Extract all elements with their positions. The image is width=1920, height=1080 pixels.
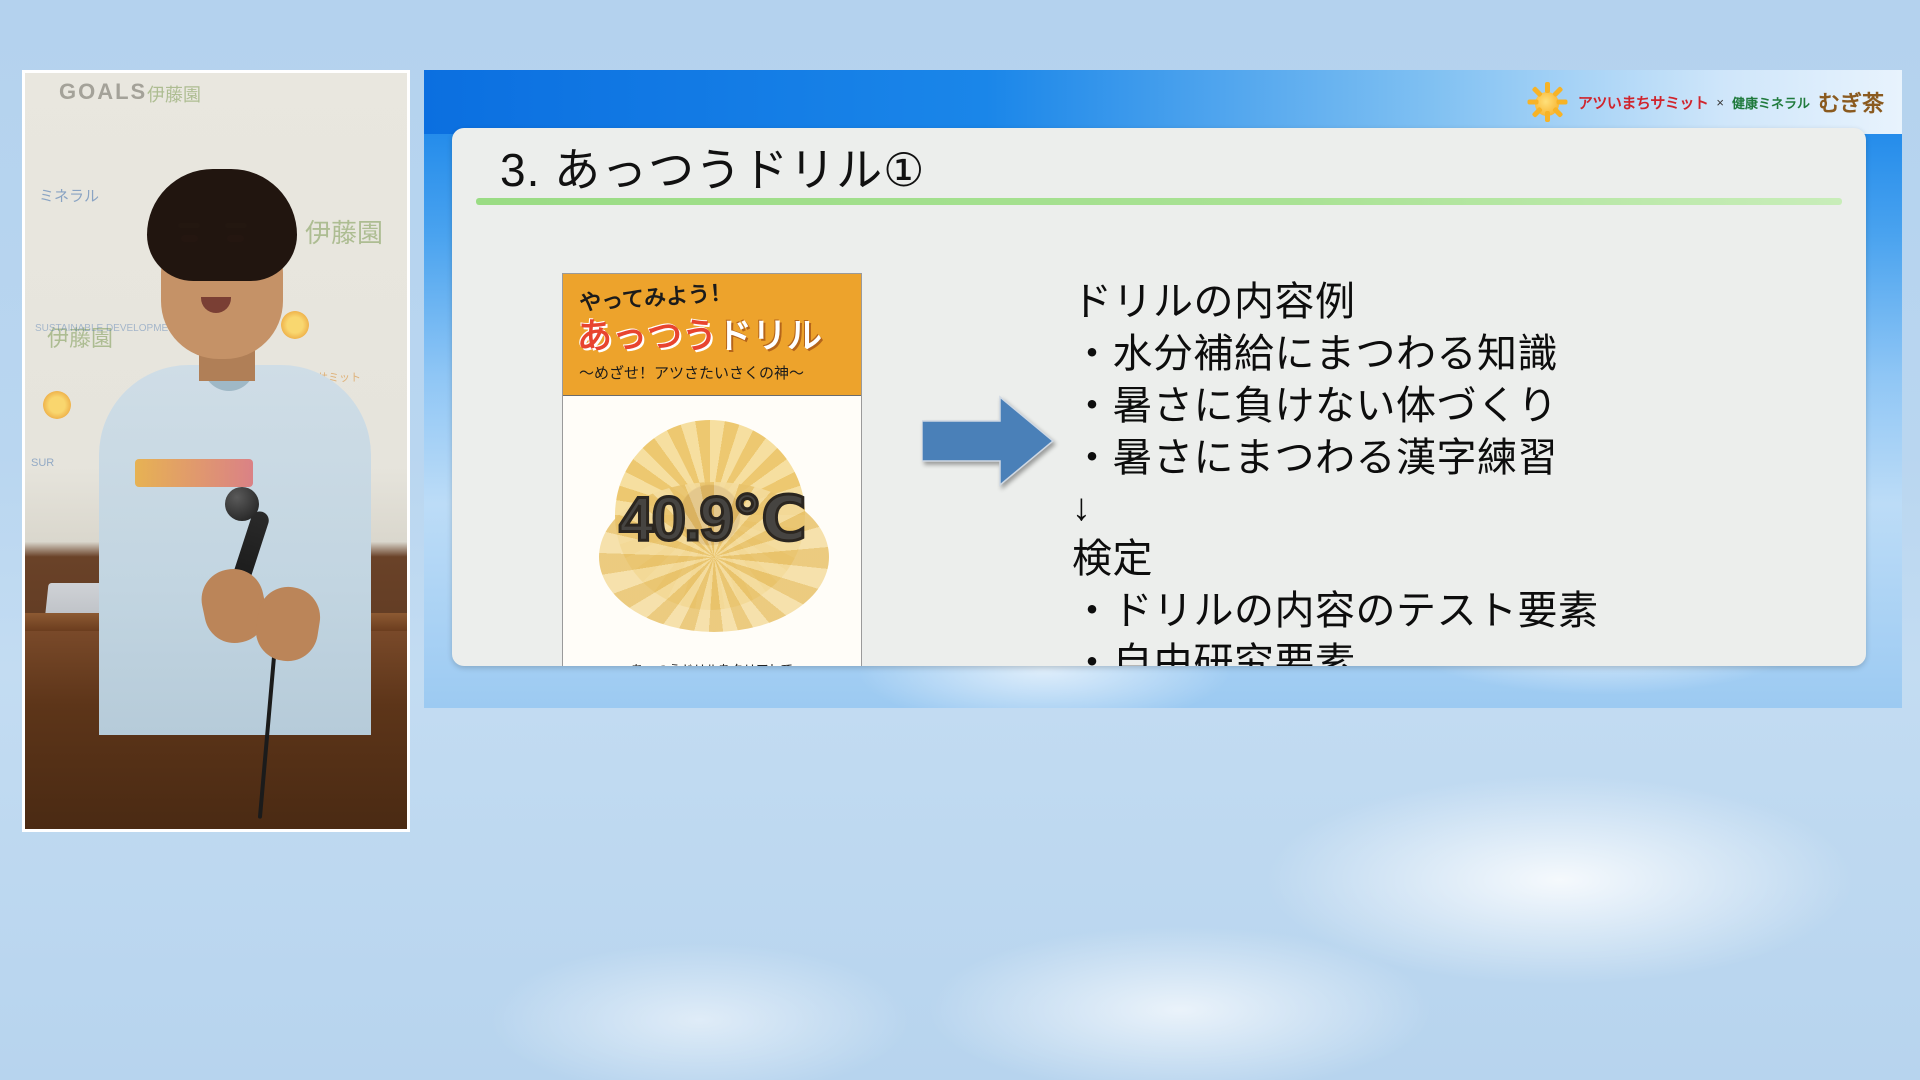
- content-text-block: ドリルの内容例 ・水分補給にまつわる知識 ・暑さに負けない体づくり ・暑さにまつ…: [1072, 276, 1832, 666]
- sun-icon: [43, 391, 71, 419]
- content-line: ・自由研究要素: [1072, 637, 1832, 666]
- content-line: 検定: [1072, 533, 1832, 585]
- poster-line2: あっつうドリル: [577, 308, 822, 359]
- eye-right: [227, 235, 244, 242]
- poster-caption: あっつうドリルをクリアして アツさたいさく検定にチャレンジ！: [563, 661, 861, 666]
- eye-left: [181, 235, 198, 242]
- shirt-logo-icon: [135, 459, 253, 487]
- title-divider: [476, 198, 1842, 205]
- poster-line2-a: あっつう: [577, 317, 717, 356]
- drill-poster-image: やってみよう！ あっつうドリル ～めざせ！アツさたいさくの神～ 40.9℃ あっ…: [562, 273, 862, 666]
- poster-body: 40.9℃ あっつうドリルをクリアして アツさたいさく検定にチャレンジ！: [563, 396, 861, 666]
- eyebrow-right: [225, 223, 247, 228]
- eyebrow-left: [178, 223, 200, 228]
- poster-line3: ～めざせ！アツさたいさくの神～: [579, 362, 804, 383]
- board-mark: ミネラル: [39, 185, 99, 206]
- speaker-video-panel[interactable]: GOALS 伊藤園 ミネラル 伊藤園 伊藤園 SUSTAINABLE DEVEL…: [22, 70, 410, 832]
- content-line: ・暑さにまつわる漢字練習: [1072, 432, 1832, 484]
- poster-line2-b: ドリル: [717, 317, 822, 356]
- presenter: [117, 169, 353, 729]
- microphone-head-icon: [225, 487, 259, 521]
- sun-icon: [1524, 82, 1570, 122]
- poster-header: やってみよう！ あっつうドリル ～めざせ！アツさたいさくの神～: [563, 274, 861, 396]
- board-mark: GOALS: [59, 79, 147, 105]
- page-title: 3. あっつうドリル①: [500, 134, 925, 200]
- board-mark: 伊藤園: [147, 81, 201, 107]
- content-line: ・暑さに負けない体づくり: [1072, 380, 1832, 432]
- content-line: ・水分補給にまつわる知識: [1072, 328, 1832, 380]
- content-line: ・ドリルの内容のテスト要素: [1072, 585, 1832, 637]
- temperature-value: 40.9℃: [563, 482, 861, 555]
- brand-summit-label: アツいまちサミット: [1578, 92, 1709, 113]
- hair: [147, 169, 297, 281]
- right-arrow-icon: [922, 393, 1054, 489]
- content-line: ドリルの内容例: [1072, 276, 1832, 328]
- brand-mineral-label: 健康ミネラル: [1732, 93, 1810, 112]
- brand-logo-bar: アツいまちサミット × 健康ミネラル むぎ茶: [1524, 78, 1884, 126]
- brand-mugicha-label: むぎ茶: [1818, 86, 1884, 118]
- down-arrow-icon: ↓: [1072, 484, 1832, 533]
- shirt: [99, 365, 371, 735]
- presentation-slide[interactable]: アツいまちサミット × 健康ミネラル むぎ茶 3. あっつうドリル① やってみよ…: [424, 70, 1902, 708]
- slide-content-card: 3. あっつうドリル① やってみよう！ あっつうドリル ～めざせ！アツさたいさく…: [452, 128, 1866, 666]
- brand-multiply-symbol: ×: [1716, 95, 1724, 110]
- poster-caption-line1: あっつうドリルをクリアして: [563, 661, 861, 666]
- board-mark: SUR: [31, 457, 54, 469]
- screen: GOALS 伊藤園 ミネラル 伊藤園 伊藤園 SUSTAINABLE DEVEL…: [0, 0, 1920, 1080]
